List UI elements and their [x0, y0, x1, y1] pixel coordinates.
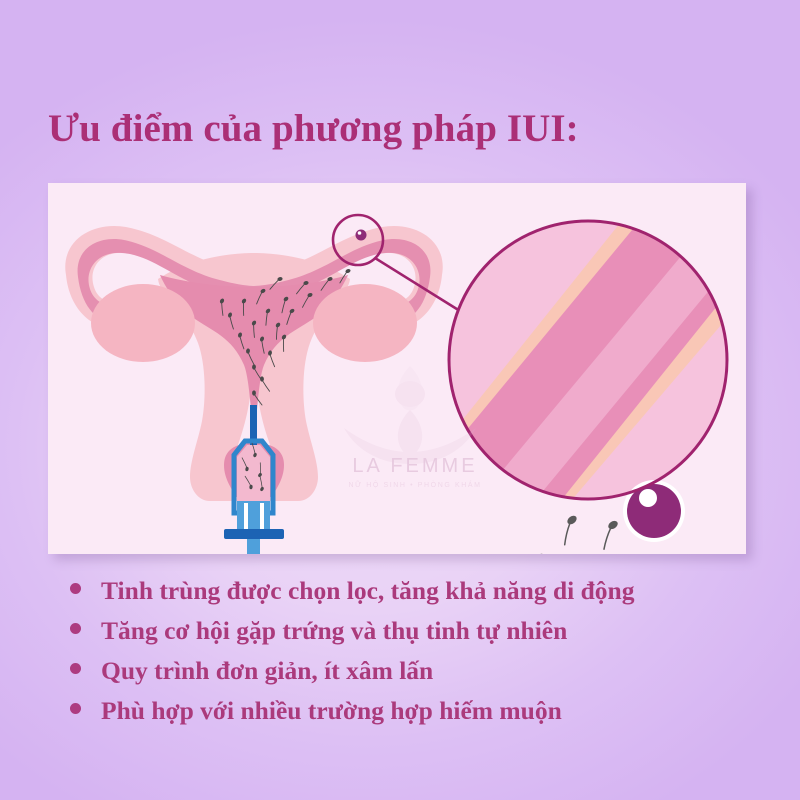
list-item-label: Phù hợp với nhiều trường hợp hiếm muộn: [101, 698, 562, 724]
bullet-dot-icon: [70, 663, 81, 674]
list-item: Phù hợp với nhiều trường hợp hiếm muộn: [70, 698, 770, 738]
page-title: Ưu điểm của phương pháp IUI:: [48, 108, 758, 151]
bullet-dot-icon: [70, 583, 81, 594]
list-item-label: Tinh trùng được chọn lọc, tăng khả năng …: [101, 578, 634, 604]
list-item-label: Tăng cơ hội gặp trứng và thụ tinh tự nhi…: [101, 618, 567, 644]
ovary-left: [91, 284, 195, 362]
list-item: Tăng cơ hội gặp trứng và thụ tinh tự nhi…: [70, 618, 770, 658]
list-item-label: Quy trình đơn giản, ít xâm lấn: [101, 658, 433, 684]
sperm-cluster-zoom: [496, 514, 626, 554]
magnifier-zoom-circle: [388, 183, 746, 554]
infographic-poster: Ưu điểm của phương pháp IUI:: [0, 0, 800, 800]
list-item: Tinh trùng được chọn lọc, tăng khả năng …: [70, 578, 770, 618]
illustration-panel: [48, 183, 746, 554]
bullet-dot-icon: [70, 623, 81, 634]
iui-diagram-svg: [48, 183, 746, 554]
list-item: Quy trình đơn giản, ít xâm lấn: [70, 658, 770, 698]
bullet-dot-icon: [70, 703, 81, 714]
benefits-list: Tinh trùng được chọn lọc, tăng khả năng …: [70, 578, 770, 738]
ovary-right: [313, 284, 417, 362]
